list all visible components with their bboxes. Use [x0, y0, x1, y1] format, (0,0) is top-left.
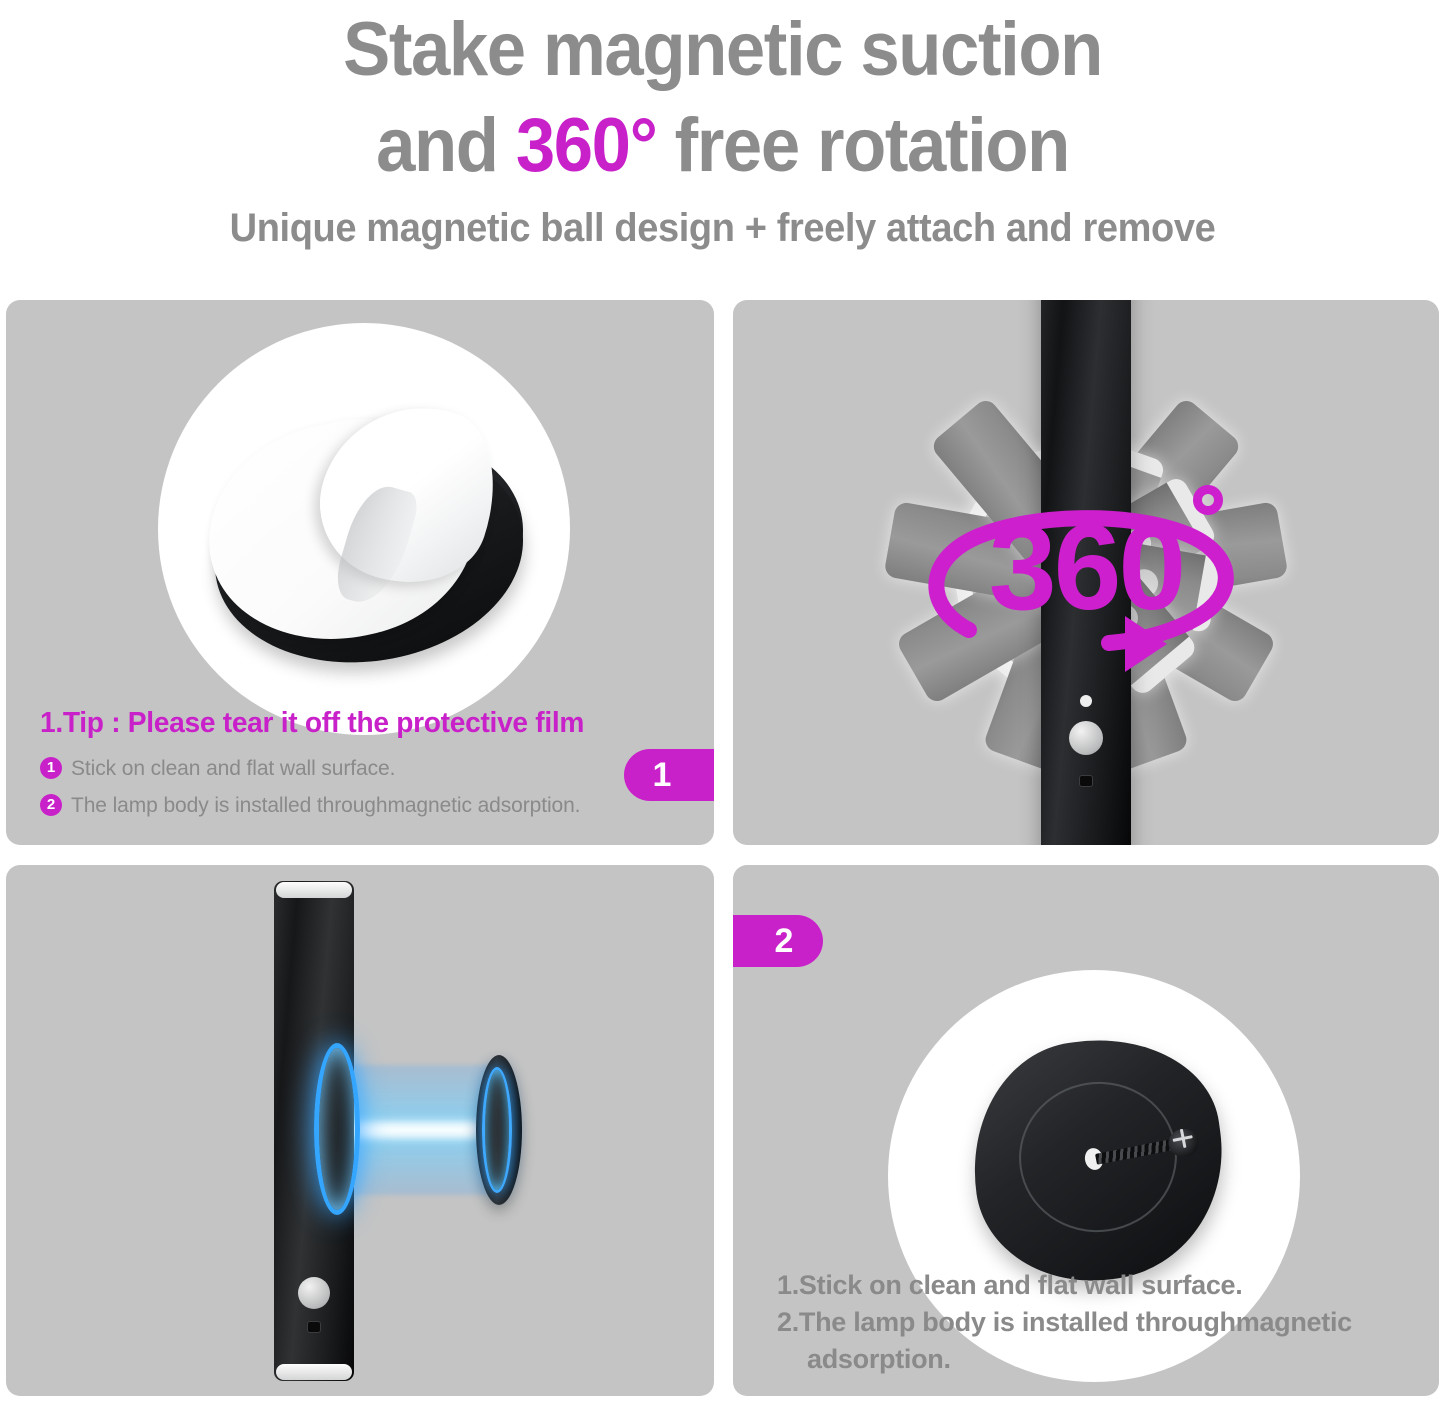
- headline-pre: and: [376, 103, 516, 188]
- list-item-label: Stick on clean and flat wall surface.: [71, 754, 395, 783]
- panel-step-2-mount: 2 1.Stick on clean and flat wall surface…: [733, 865, 1439, 1396]
- panel-360-rotation: 360: [733, 300, 1439, 845]
- panel-magnetic-attach: [6, 865, 714, 1396]
- caption-block-step-2: 1.Stick on clean and flat wall surface. …: [777, 1267, 1417, 1378]
- adhesive-pad-image: [196, 365, 546, 695]
- tip-title: 1.Tip : Please tear it off the protectiv…: [40, 704, 661, 742]
- page-title: Stake magnetic suction and 360° free rot…: [51, 0, 1395, 194]
- headline-post: free rotation: [656, 103, 1068, 188]
- list-item-label: The lamp body is installed throughmagnet…: [71, 791, 580, 820]
- magnetic-attach-image: [6, 865, 714, 1396]
- list-item: 1 Stick on clean and flat wall surface.: [40, 754, 680, 783]
- lamp-body-main: [1041, 300, 1131, 845]
- wall-mount-disc: [476, 1055, 522, 1205]
- headline-line-2: and 360° free rotation: [51, 98, 1395, 194]
- magnet-ring-mount-side: [482, 1067, 512, 1193]
- instruction-line-2: 2.The lamp body is installed throughmagn…: [777, 1304, 1417, 1341]
- bullet-number-icon: 2: [40, 794, 62, 816]
- panel-step-1-adhesive: 1.Tip : Please tear it off the protectiv…: [6, 300, 714, 845]
- mount-plate-image: [973, 1040, 1223, 1280]
- magnet-ring-lamp-side: [314, 1043, 360, 1215]
- headline-line-1: Stake magnetic suction: [51, 2, 1395, 98]
- step-badge-2: 2: [733, 915, 823, 967]
- step-badge-1: 1: [624, 749, 714, 801]
- header: Stake magnetic suction and 360° free rot…: [0, 0, 1445, 288]
- rotation-fan-image: [733, 300, 1439, 845]
- page-subtitle: Unique magnetic ball design + freely att…: [36, 200, 1409, 256]
- lamp-end-cap-bottom: [276, 1364, 352, 1380]
- bullet-number-icon: 1: [40, 757, 62, 779]
- tip-list: 1 Stick on clean and flat wall surface. …: [40, 754, 680, 820]
- motion-sensor-icon: [1069, 721, 1103, 755]
- infographic-page: Stake magnetic suction and 360° free rot…: [0, 0, 1445, 1404]
- lamp-end-cap-top: [276, 882, 352, 898]
- lamp-indicator-dot: [1080, 695, 1092, 707]
- headline-accent-360: 360°: [516, 103, 657, 188]
- motion-sensor-icon: [298, 1277, 330, 1309]
- list-item: 2 The lamp body is installed throughmagn…: [40, 791, 680, 820]
- lamp-charging-port: [307, 1321, 321, 1333]
- instruction-line-3: adsorption.: [777, 1341, 1417, 1378]
- magnetic-beam-core: [336, 1117, 496, 1143]
- lamp-charging-port: [1079, 775, 1093, 787]
- instruction-line-1: 1.Stick on clean and flat wall surface.: [777, 1267, 1417, 1304]
- caption-block-step-1: 1.Tip : Please tear it off the protectiv…: [40, 704, 680, 828]
